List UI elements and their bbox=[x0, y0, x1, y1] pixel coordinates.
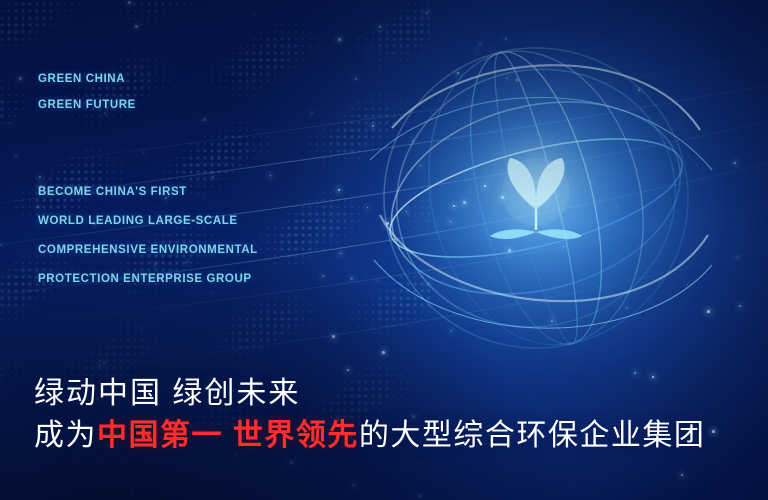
english-tagline-line: GREEN CHINA bbox=[38, 66, 338, 92]
chinese-headline: 绿动中国 绿创未来 成为中国第一 世界领先的大型综合环保企业集团 bbox=[34, 374, 754, 458]
chinese-headline-highlight: 中国第一 世界领先 bbox=[97, 419, 359, 452]
chinese-headline-line2: 成为中国第一 世界领先的大型综合环保企业集团 bbox=[34, 414, 754, 458]
english-mission-line: COMPREHENSIVE ENVIRONMENTAL bbox=[38, 236, 358, 265]
english-mission-line: WORLD LEADING LARGE-SCALE bbox=[38, 207, 358, 236]
chinese-headline-prefix: 成为 bbox=[34, 419, 97, 452]
banner-image: GREEN CHINA GREEN FUTURE BECOME CHINA'S … bbox=[0, 0, 768, 500]
english-mission-line: PROTECTION ENTERPRISE GROUP bbox=[38, 265, 358, 294]
chinese-headline-suffix: 的大型综合环保企业集团 bbox=[359, 419, 706, 452]
english-tagline-top: GREEN CHINA GREEN FUTURE bbox=[38, 66, 338, 118]
english-mission-line: BECOME CHINA'S FIRST bbox=[38, 178, 358, 207]
chinese-headline-line1: 绿动中国 绿创未来 bbox=[34, 374, 754, 414]
english-tagline-line: GREEN FUTURE bbox=[38, 92, 338, 118]
wireframe-globe bbox=[340, 10, 740, 410]
english-mission-statement: BECOME CHINA'S FIRST WORLD LEADING LARGE… bbox=[38, 178, 358, 294]
